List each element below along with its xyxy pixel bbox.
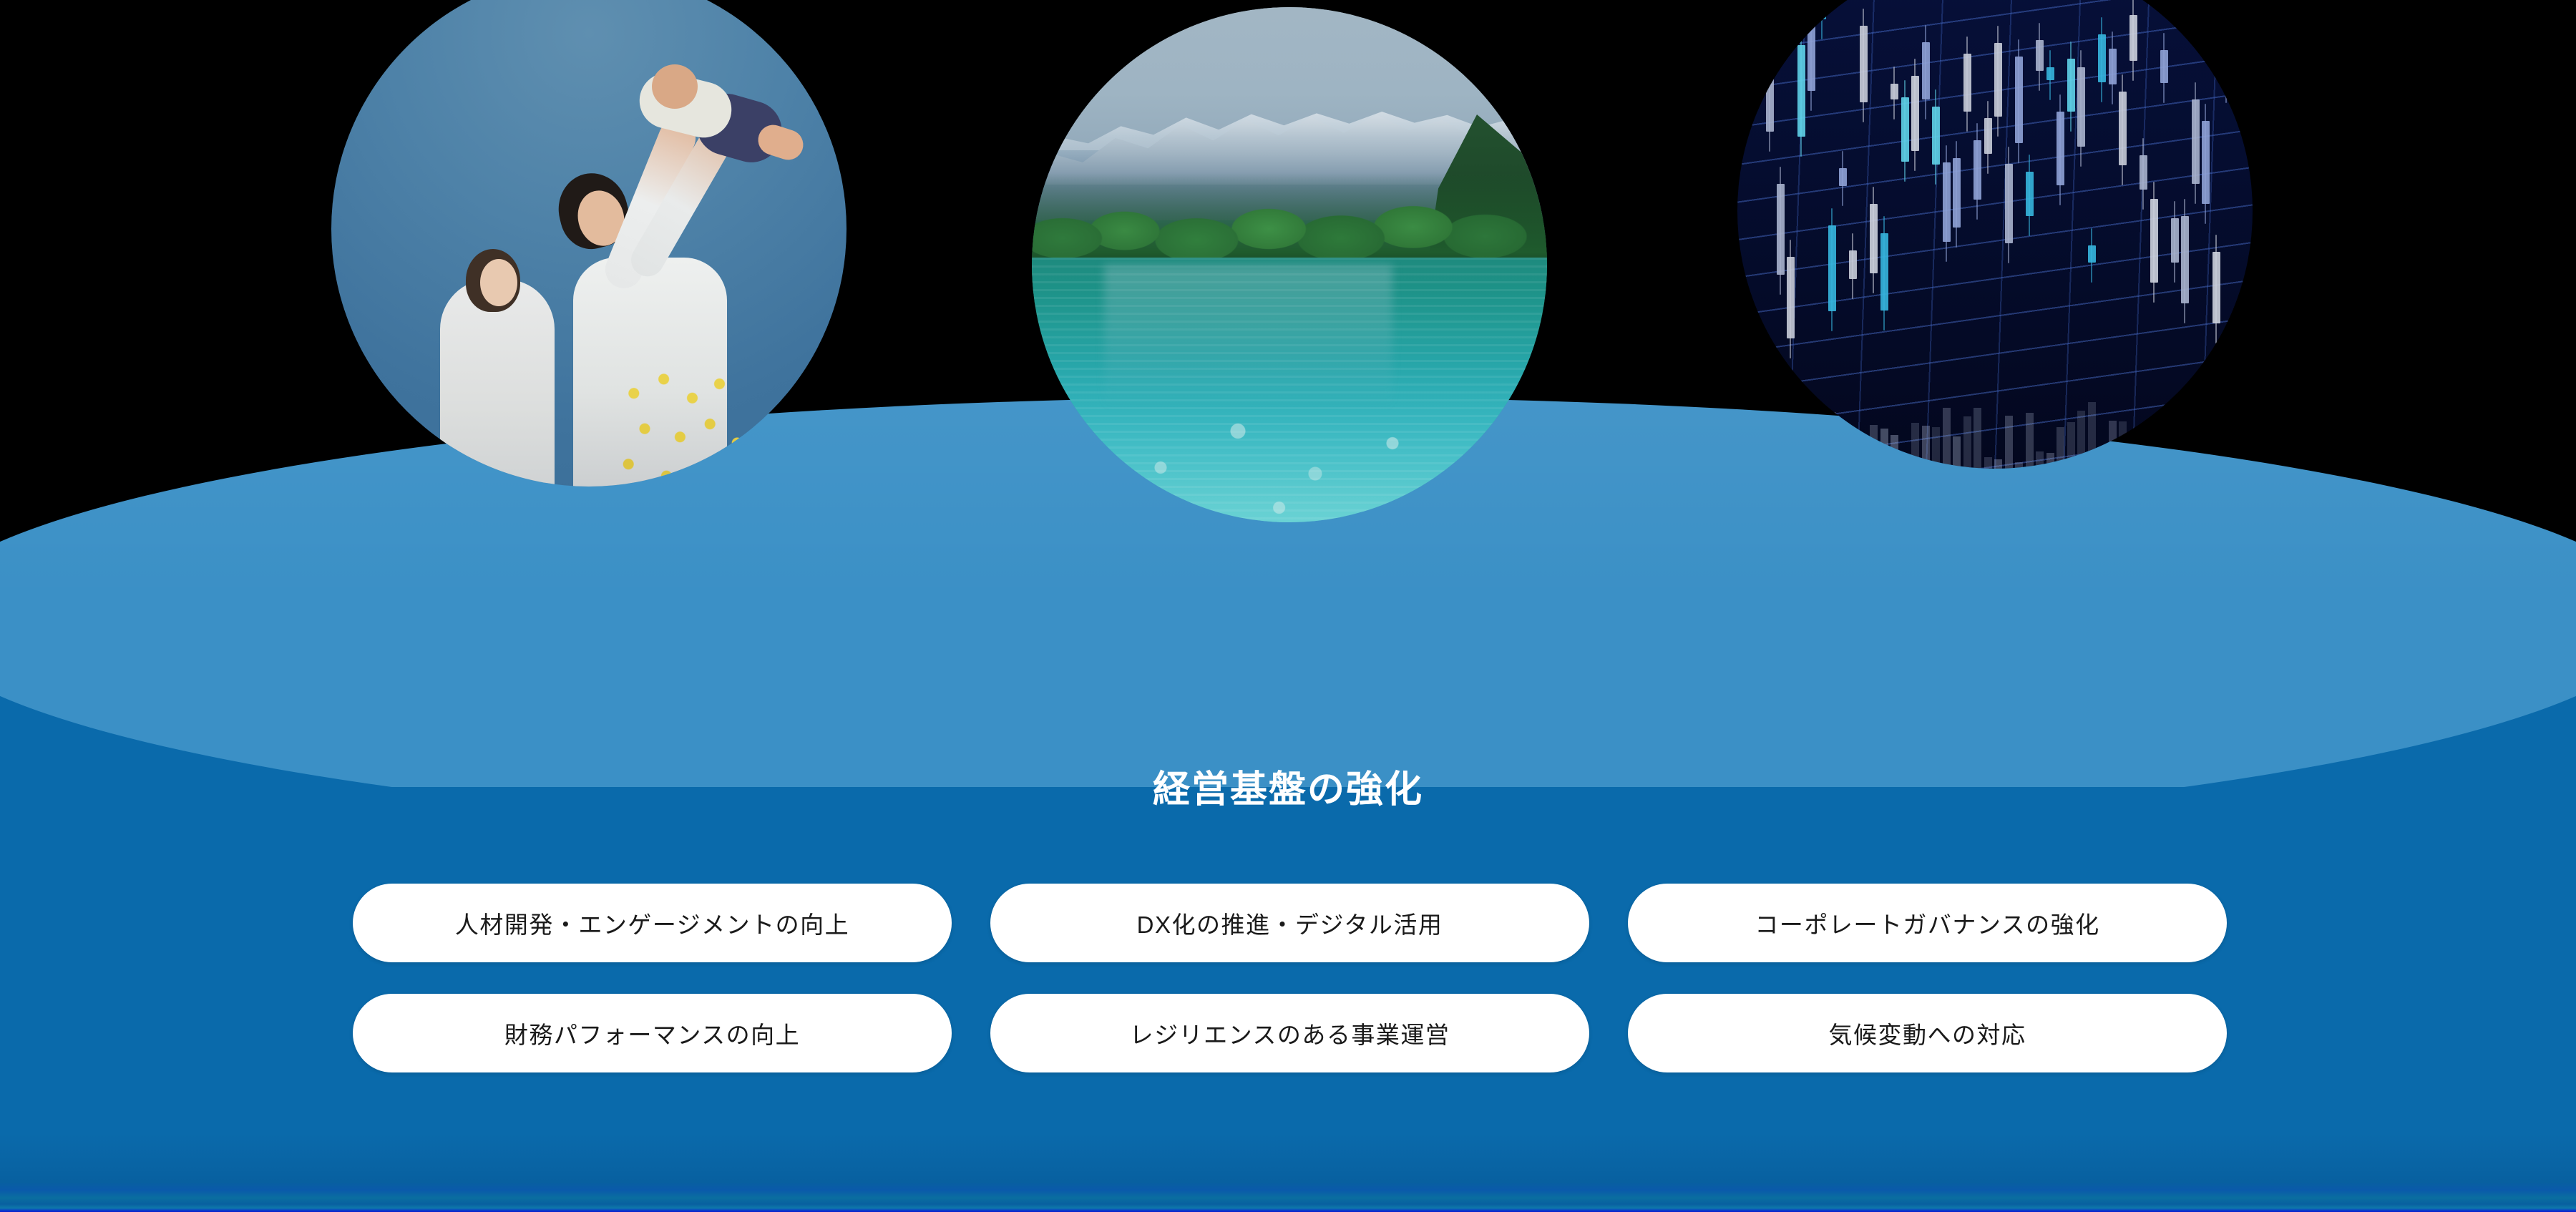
- hero-circle-nature: [1032, 7, 1547, 522]
- family-rape-blossoms: [618, 372, 753, 487]
- chart-volume-bars: [1737, 390, 2253, 469]
- pill-label: DX化の推進・デジタル活用: [1137, 906, 1443, 940]
- pill-label: コーポレートガバナンスの強化: [1755, 906, 2099, 940]
- pill-label: 人材開発・エンゲージメントの向上: [455, 906, 849, 940]
- nature-water-reflection: [1104, 265, 1392, 408]
- family-photo: [331, 0, 847, 487]
- family-mother-face: [480, 259, 517, 306]
- pill-climate-change[interactable]: 気候変動への対応: [1628, 994, 2227, 1072]
- family-baby-head: [652, 64, 698, 109]
- pill-label: レジリエンスのある事業運営: [1130, 1016, 1450, 1050]
- pill-label: 財務パフォーマンスの向上: [504, 1016, 800, 1050]
- pill-label: 気候変動への対応: [1829, 1016, 2026, 1050]
- hero-circle-market: [1737, 0, 2253, 469]
- pill-human-capital[interactable]: 人材開発・エンゲージメントの向上: [353, 884, 952, 962]
- section-title: 経営基盤の強化: [0, 771, 2576, 808]
- pill-dx[interactable]: DX化の推進・デジタル活用: [990, 884, 1589, 962]
- strategy-pill-grid: 人材開発・エンゲージメントの向上 DX化の推進・デジタル活用 コーポレートガバナ…: [353, 884, 2226, 1072]
- pill-resilience[interactable]: レジリエンスのある事業運営: [990, 994, 1589, 1072]
- nature-treeline: [1032, 173, 1547, 266]
- pill-governance[interactable]: コーポレートガバナンスの強化: [1628, 884, 2227, 962]
- background-bottom-bands: [0, 1133, 2576, 1212]
- stock-chart-photo: [1737, 0, 2253, 469]
- nature-riverbed-pebbles: [1032, 401, 1547, 522]
- hero-circle-family: [331, 0, 847, 487]
- pill-financial-performance[interactable]: 財務パフォーマンスの向上: [353, 994, 952, 1072]
- slide-canvas: 経営基盤の強化 人材開発・エンゲージメントの向上 DX化の推進・デジタル活用 コ…: [0, 0, 2576, 1212]
- mountain-lake-photo: [1032, 7, 1547, 522]
